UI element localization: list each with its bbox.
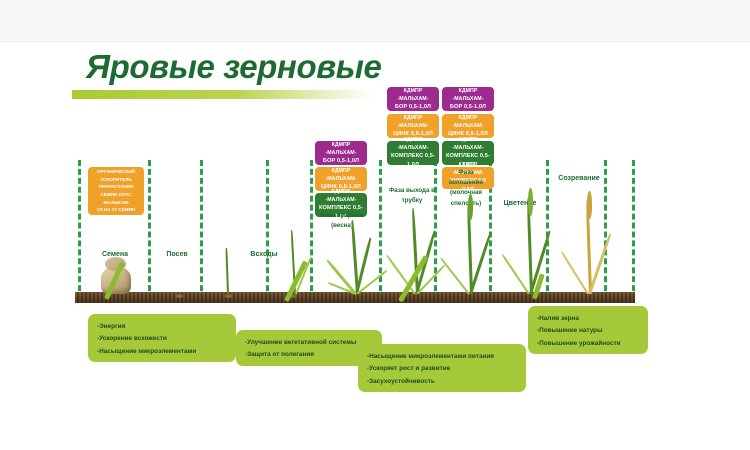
plant-ripening xyxy=(566,194,612,294)
stage-divider xyxy=(632,160,635,300)
leaf-blade xyxy=(561,251,590,295)
product-line-1: КДМПР -МАЛЬХАМ- xyxy=(389,136,437,152)
booster-line: СЕМЯН ОУПС xyxy=(90,191,142,199)
stage-divider xyxy=(266,160,269,300)
leaf-blade xyxy=(588,233,611,294)
caption-line: Фаза xyxy=(438,168,494,178)
booster-line: 1Л НА 1Т СЕМЯН xyxy=(90,206,142,214)
product-chip-complex[interactable]: КДМПР -МАЛЬХАМ- КОМПЛЕКС 0,5-1,0Л xyxy=(387,141,439,165)
title-underline-bar xyxy=(72,90,372,99)
plant-heading xyxy=(448,196,492,294)
infographic-canvas: Яровые зерновые КДМПР -МАЛЬХАМ- БОР 0,5-… xyxy=(0,0,750,450)
product-chip-bor[interactable]: КДМПР -МАЛЬХАМ- БОР 0,5-1,0Л xyxy=(442,87,494,111)
booster-line: ПРОРАСТАНИЯ xyxy=(90,183,142,191)
caption-line: Фаза выхода в xyxy=(383,186,441,196)
page-title: Яровые зерновые xyxy=(86,48,381,86)
seed-in-soil xyxy=(176,294,183,298)
plant-tillering xyxy=(330,218,380,294)
product-line-1: КДМПР -МАЛЬХАМ- xyxy=(444,87,492,103)
plant-stem-elongation xyxy=(392,206,438,294)
booster-line: -МАЛЬХАМ- xyxy=(90,199,142,207)
grain-ear xyxy=(528,188,533,216)
booster-line: УСКОРИТЕЛЬ xyxy=(90,176,142,184)
leaf-blade xyxy=(501,254,530,295)
caption-line: колошения xyxy=(438,178,494,188)
product-line-1: КДМПР -МАЛЬХАМ- xyxy=(389,114,437,130)
product-line-2: БОР 0,5-1,0Л xyxy=(317,157,365,166)
stage-caption-stem-elongation: Фаза выхода в трубку xyxy=(383,186,441,206)
callout-row: -Налив зерна xyxy=(537,313,639,325)
product-line-1: КДМПР -МАЛЬХАМ- xyxy=(444,136,492,152)
leaf-blade xyxy=(440,257,470,295)
grain-ear xyxy=(587,191,592,219)
booster-line: ОРГАНИЧЕСКИЙ xyxy=(90,168,142,176)
leaf-blade xyxy=(225,248,229,294)
callout-row: -Ускорение всхожести xyxy=(97,333,227,345)
callout-row: -Насыщение микроэлементами xyxy=(97,346,227,358)
seed-in-soil xyxy=(225,294,232,298)
callout-row: -Повышение натуры xyxy=(537,325,639,337)
callout-row: -Насыщение микроэлементами питания xyxy=(367,351,517,363)
callout-row: -Защита от полегания xyxy=(245,349,373,361)
callout-yield-benefits[interactable]: -Налив зерна -Повышение натуры -Повышени… xyxy=(528,306,648,354)
product-chip-bor[interactable]: КДМПР -МАЛЬХАМ- БОР 0,5-1,0Л xyxy=(315,141,367,165)
product-line-2: БОР 0,5-1,0Л xyxy=(444,103,492,112)
product-chip-zinc[interactable]: КДМПР -МАЛЬХАМ- ЦИНК 0,5-1,0Л xyxy=(442,114,494,138)
stage-divider xyxy=(78,160,81,300)
seed-booster-box[interactable]: ОРГАНИЧЕСКИЙ УСКОРИТЕЛЬ ПРОРАСТАНИЯ СЕМЯ… xyxy=(88,167,144,215)
callout-row: -Повышение урожайности xyxy=(537,338,639,350)
sack-grain xyxy=(109,260,116,266)
product-chip-bor[interactable]: КДМПР -МАЛЬХАМ- БОР 0,5-1,0Л xyxy=(387,87,439,111)
plant-flowering xyxy=(508,192,552,294)
callout-row: -Засухоустойчивость xyxy=(367,376,517,388)
stage-divider xyxy=(148,160,151,300)
stage-name-sowing: Посев xyxy=(155,251,199,258)
top-band-divider xyxy=(0,41,750,42)
product-line-1: КДМПР -МАЛЬХАМ- xyxy=(389,87,437,103)
product-line-1: КДМПР -МАЛЬХАМ- xyxy=(317,167,365,183)
product-chip-zinc[interactable]: КДМПР -МАЛЬХАМ- ЦИНК 0,5-1,0Л xyxy=(387,114,439,138)
plant-sprout-small xyxy=(218,246,238,294)
product-line-1: КДМПР -МАЛЬХАМ- xyxy=(317,188,365,204)
callout-nutrition-benefits[interactable]: -Насыщение микроэлементами питания -Уско… xyxy=(358,344,526,392)
callout-row: -Энергия xyxy=(97,321,227,333)
grain-ear xyxy=(468,194,473,220)
stage-name-sprouts: Всходы xyxy=(240,251,288,258)
leaf-blade xyxy=(355,237,372,294)
product-line-2: КОМПЛЕКС 0,5-1,0Л xyxy=(389,152,437,169)
callout-row: -Улучшение вегетативной системы xyxy=(245,337,373,349)
callout-seed-benefits[interactable]: -Энергия -Ускорение всхожести -Насыщение… xyxy=(88,314,236,362)
product-line-1: КДМПР -МАЛЬХАМ- xyxy=(444,114,492,130)
stage-divider xyxy=(200,160,203,300)
caption-line: трубку xyxy=(383,196,441,206)
leaf-blade xyxy=(469,233,491,295)
top-band xyxy=(0,0,750,42)
product-line-2: БОР 0,5-1,0Л xyxy=(389,103,437,112)
stage-name-ripening: Созревание xyxy=(549,175,609,182)
callout-row: -Ускоряет рост и развитие xyxy=(367,363,517,375)
product-line-1: КДМПР -МАЛЬХАМ- xyxy=(317,141,365,157)
